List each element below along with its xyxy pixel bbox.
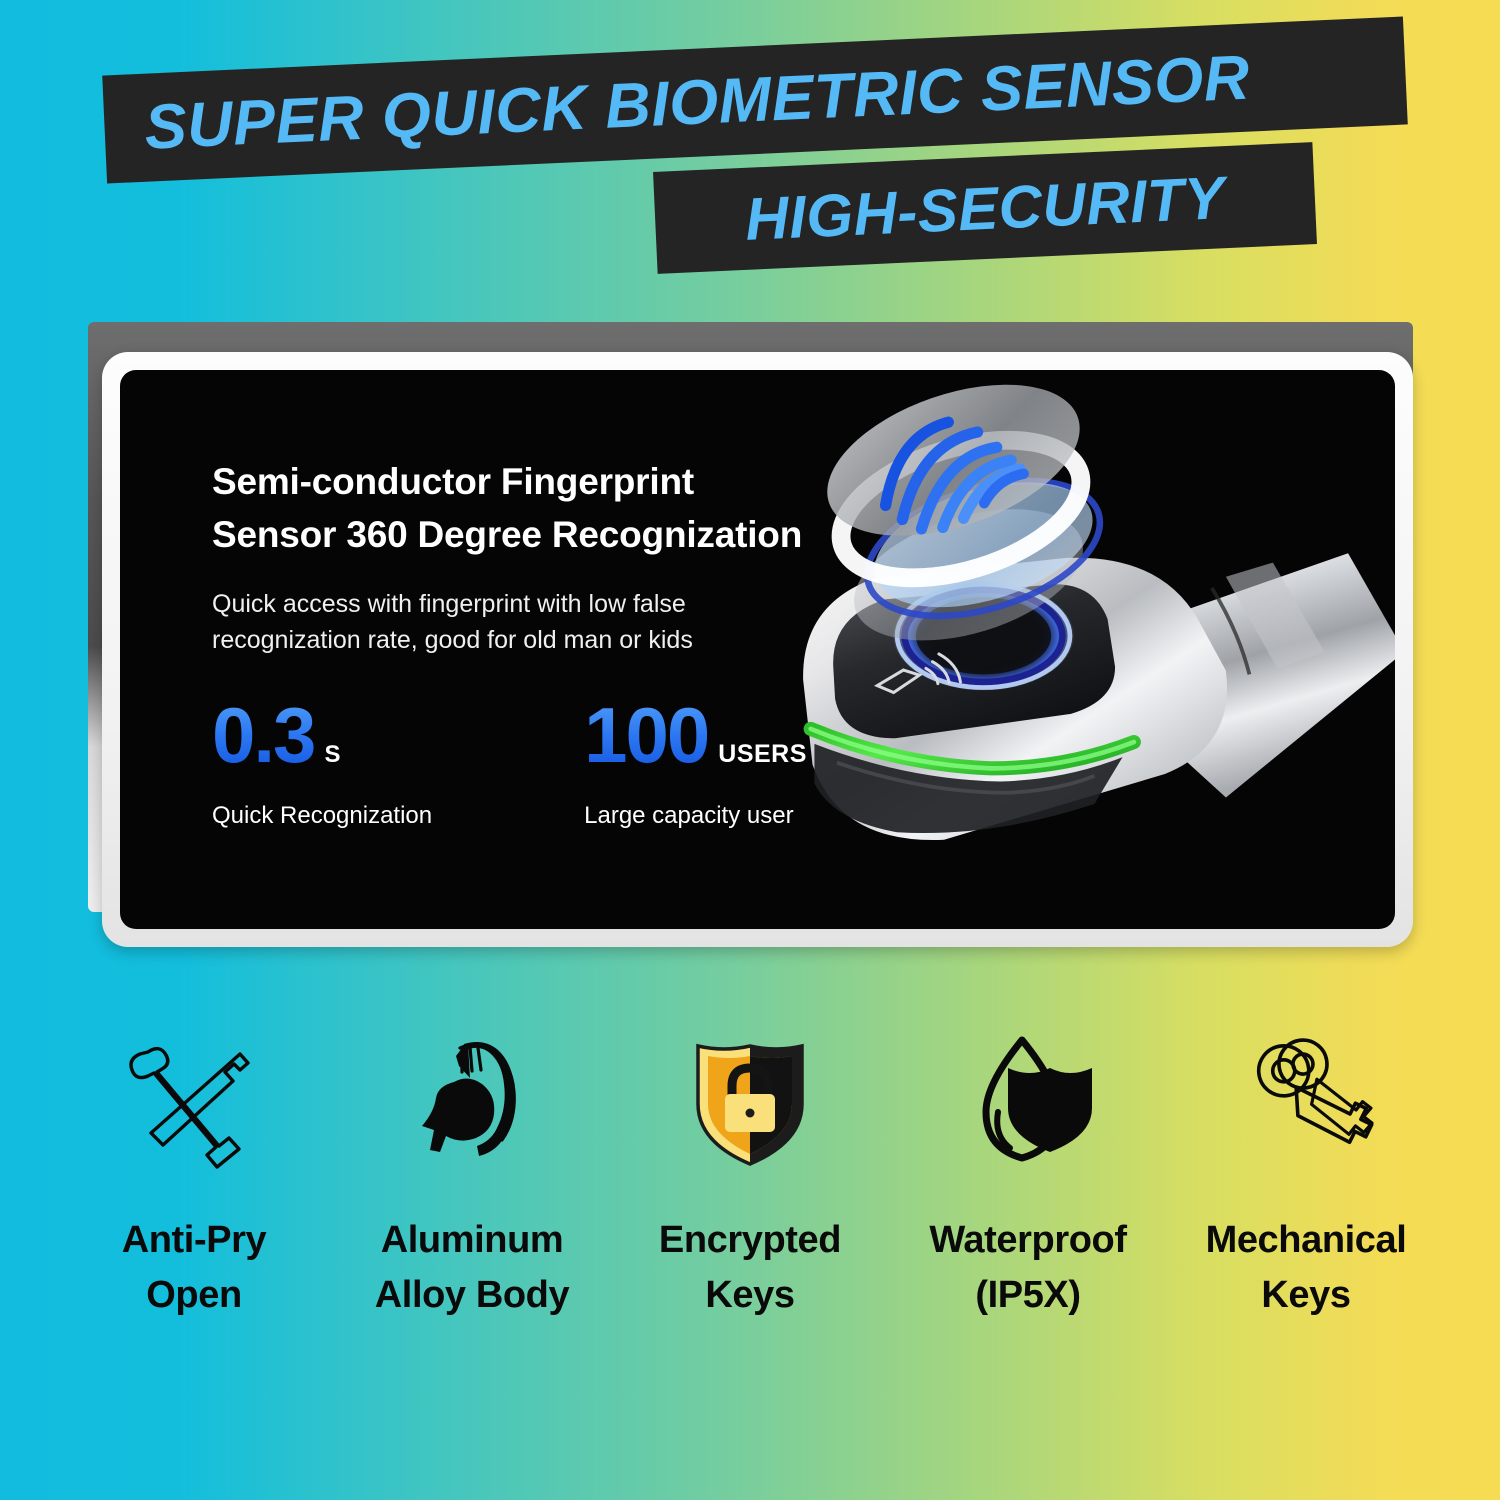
feature-waterproof: Waterproof (IP5X) xyxy=(894,1025,1162,1323)
feature-label-line-2: Open xyxy=(122,1268,267,1323)
feature-label-line-1: Mechanical xyxy=(1206,1213,1407,1268)
feature-label-line-2: Keys xyxy=(659,1268,841,1323)
stat-unit: S xyxy=(324,741,341,769)
card-subtitle: Quick access with fingerprint with low f… xyxy=(212,587,832,658)
feature-label: Encrypted Keys xyxy=(659,1213,841,1323)
feature-aluminum-alloy-body: Aluminum Alloy Body xyxy=(338,1025,606,1323)
feature-anti-pry-open: Anti-Pry Open xyxy=(60,1025,328,1323)
card-subtitle-line-2: recognization rate, good for old man or … xyxy=(212,623,832,659)
card-screen: Semi-conductor Fingerprint Sensor 360 De… xyxy=(120,370,1395,929)
feature-label-line-1: Waterproof xyxy=(929,1213,1126,1268)
stat-unit: USERS xyxy=(718,740,807,769)
keys-icon xyxy=(1236,1025,1376,1175)
crowbar-cross-icon xyxy=(124,1025,264,1175)
feature-label: Mechanical Keys xyxy=(1206,1213,1407,1323)
stat-value-group: 100 USERS xyxy=(584,700,807,772)
feature-label-line-1: Anti-Pry xyxy=(122,1213,267,1268)
headline-banner-secondary: HIGH-SECURITY xyxy=(653,142,1317,274)
water-drop-shield-icon xyxy=(962,1025,1094,1175)
feature-label-line-1: Encrypted xyxy=(659,1213,841,1268)
feature-label: Waterproof (IP5X) xyxy=(929,1213,1126,1323)
product-illustration xyxy=(765,370,1395,929)
feature-label-line-2: (IP5X) xyxy=(929,1268,1126,1323)
card-subtitle-line-1: Quick access with fingerprint with low f… xyxy=(212,587,832,623)
card-title: Semi-conductor Fingerprint Sensor 360 De… xyxy=(212,456,832,561)
stat-value-group: 0.3 S xyxy=(212,700,432,772)
card-title-line-2: Sensor 360 Degree Recognization xyxy=(212,509,832,562)
infographic-page: SUPER QUICK BIOMETRIC SENSOR HIGH-SECURI… xyxy=(0,0,1500,1500)
headline-banner-secondary-text: HIGH-SECURITY xyxy=(744,163,1226,254)
feature-label-line-1: Aluminum xyxy=(375,1213,569,1268)
feature-card: Semi-conductor Fingerprint Sensor 360 De… xyxy=(88,322,1413,947)
stat-large-capacity: 100 USERS Large capacity user xyxy=(584,700,807,830)
card-frame: Semi-conductor Fingerprint Sensor 360 De… xyxy=(102,352,1413,947)
stat-value: 0.3 xyxy=(212,700,314,772)
feature-label: Anti-Pry Open xyxy=(122,1213,267,1323)
stats-row: 0.3 S Quick Recognization 100 USERS Larg… xyxy=(212,700,807,830)
feature-label: Aluminum Alloy Body xyxy=(375,1213,569,1323)
stat-quick-recognition: 0.3 S Quick Recognization xyxy=(212,700,432,830)
shield-lock-icon xyxy=(684,1025,816,1175)
feature-label-line-2: Keys xyxy=(1206,1268,1407,1323)
stat-value: 100 xyxy=(584,700,708,772)
stat-caption: Quick Recognization xyxy=(212,802,432,830)
feature-row: Anti-Pry Open xyxy=(60,1025,1440,1323)
card-title-line-1: Semi-conductor Fingerprint xyxy=(212,456,832,509)
card-text-block: Semi-conductor Fingerprint Sensor 360 De… xyxy=(212,456,832,658)
headline-banner-primary-text: SUPER QUICK BIOMETRIC SENSOR xyxy=(143,42,1251,164)
flexing-bicep-icon xyxy=(402,1025,542,1175)
feature-encrypted-keys: Encrypted Keys xyxy=(616,1025,884,1323)
feature-mechanical-keys: Mechanical Keys xyxy=(1172,1025,1440,1323)
feature-label-line-2: Alloy Body xyxy=(375,1268,569,1323)
stat-caption: Large capacity user xyxy=(584,802,807,830)
